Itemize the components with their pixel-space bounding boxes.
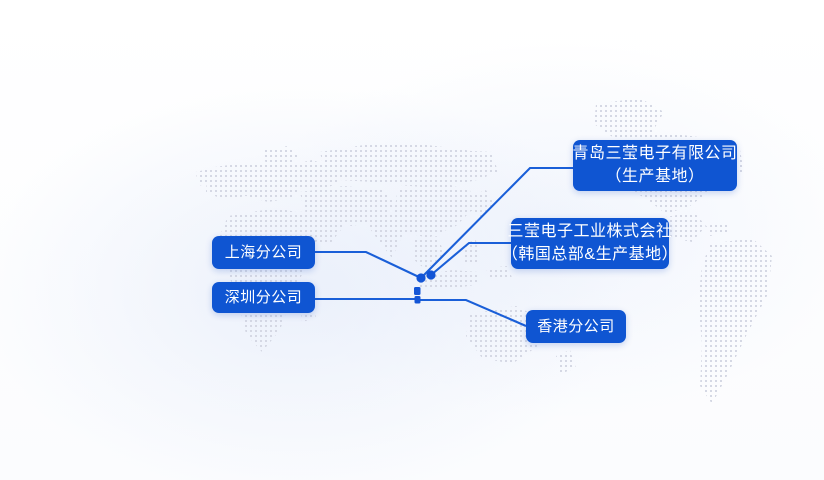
connector-hongkong: [419, 300, 526, 326]
label-hongkong-text: 香港分公司: [537, 316, 615, 337]
marker-shenzhen: [414, 287, 421, 295]
label-hongkong-branch[interactable]: 香港分公司: [526, 310, 626, 343]
label-korea-line2: （韩国总部&生产基地）: [502, 244, 678, 267]
marker-hongkong: [415, 296, 421, 304]
label-qingdao-line2: （生产基地）: [605, 166, 704, 189]
marker-qingdao-shanghai: [416, 273, 425, 282]
label-shanghai-text: 上海分公司: [225, 242, 303, 263]
label-shanghai-branch[interactable]: 上海分公司: [212, 236, 315, 269]
label-korea-hq[interactable]: 三莹电子工业株式会社 （韩国总部&生产基地）: [511, 218, 669, 269]
world-map-infographic: 青岛三莹电子有限公司 （生产基地） 三莹电子工业株式会社 （韩国总部&生产基地）…: [0, 0, 824, 480]
label-shenzhen-text: 深圳分公司: [225, 287, 303, 308]
connector-shanghai: [315, 252, 421, 278]
connector-korea: [431, 243, 511, 275]
label-korea-line1: 三莹电子工业株式会社: [508, 221, 673, 244]
label-shenzhen-branch[interactable]: 深圳分公司: [212, 282, 315, 313]
marker-korea: [426, 270, 435, 279]
label-qingdao-line1: 青岛三莹电子有限公司: [573, 143, 738, 166]
label-qingdao[interactable]: 青岛三莹电子有限公司 （生产基地）: [573, 140, 737, 191]
connector-layer: [0, 0, 824, 480]
